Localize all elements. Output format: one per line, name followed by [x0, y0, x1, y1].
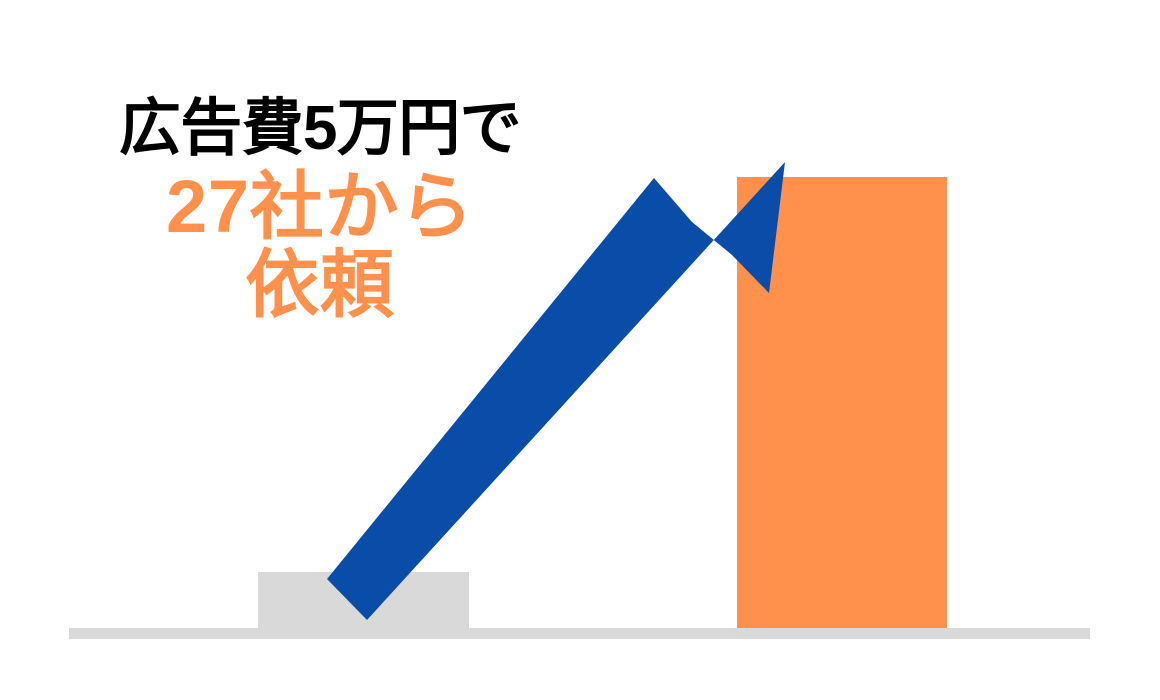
bar-after: [737, 177, 947, 628]
headline-block: 広告費5万円で 27社から 依頼: [60, 96, 580, 325]
headline-line-primary: 広告費5万円で: [60, 96, 580, 162]
chart-baseline: [69, 628, 1090, 639]
bar-before: [258, 572, 469, 628]
infographic-canvas: 広告費5万円で 27社から 依頼: [0, 0, 1160, 700]
headline-line-accent-secondary: 依頼: [60, 246, 580, 324]
headline-line-accent: 27社から: [60, 168, 580, 246]
